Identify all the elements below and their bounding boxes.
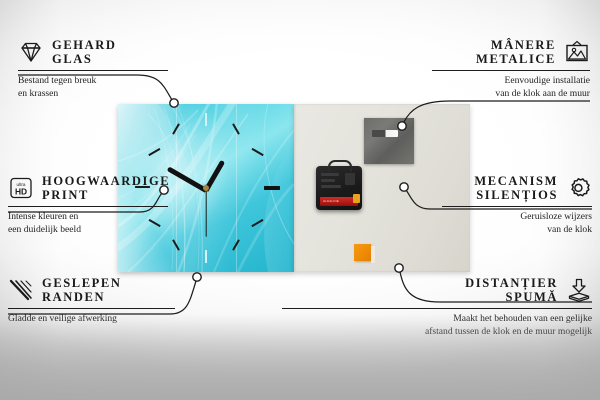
callout-title: HOOGWAARDIGE PRINT	[42, 174, 170, 202]
callout-description: Maakt het behouden van een gelijke afsta…	[282, 313, 592, 338]
second-hand	[205, 189, 206, 237]
callout-title: MÂNERE METALICE	[476, 38, 556, 66]
callout-description: Geruisloze wijzers van de klok	[442, 211, 592, 236]
mechanism-detail	[321, 185, 341, 188]
callout-title: GESLEPEN RANDEN	[42, 276, 122, 304]
hour-tick-10	[148, 148, 160, 157]
callout-mecanism-silentios[interactable]: MECANISM SILENȚIOS Geruisloze wijzers va…	[442, 174, 592, 236]
diamond-icon	[18, 40, 44, 64]
spacer-press-icon	[566, 278, 592, 302]
callout-rule	[282, 308, 592, 309]
callout-distantier-spuma[interactable]: DISTANȚIER SPUMĂ Maakt het behouden van …	[282, 276, 592, 338]
callout-description: Eenvoudige installatie van de klok aan d…	[432, 75, 590, 100]
callout-rule	[432, 70, 590, 71]
connector-node-geslepen-randen	[193, 273, 201, 281]
aa-battery: ALKALINE	[320, 197, 358, 206]
hour-tick-6	[205, 250, 207, 263]
callout-header: MECANISM SILENȚIOS	[442, 174, 592, 202]
mechanism-detail	[345, 173, 355, 185]
callout-manere-metalice[interactable]: MÂNERE METALICE Eenvoudige installatie v…	[432, 38, 590, 100]
callout-description: Intense kleuren en een duidelijk beeld	[8, 211, 168, 236]
hand-center-cap	[203, 185, 209, 191]
orange-spacer	[354, 244, 371, 261]
product-illustration: ALKALINE	[118, 104, 470, 272]
callout-header: MÂNERE METALICE	[432, 38, 590, 66]
hour-tick-4	[251, 219, 263, 228]
metal-hanger-plate	[364, 118, 414, 164]
callout-header: ultra HD HOOGWAARDIGE PRINT	[8, 174, 168, 202]
infographic-canvas: ALKALINE	[0, 0, 600, 400]
callout-header: DISTANȚIER SPUMĂ	[282, 276, 592, 304]
hour-tick-1	[232, 123, 240, 134]
silent-clock-mechanism: ALKALINE	[316, 166, 362, 210]
hour-tick-11	[172, 123, 180, 134]
callout-header: GESLEPEN RANDEN	[8, 276, 175, 304]
callout-gehard-glas[interactable]: GEHARD GLAS Bestand tegen breuk en krass…	[18, 38, 168, 100]
hour-tick-12	[205, 113, 207, 126]
callout-geslepen-randen[interactable]: GESLEPEN RANDEN Gladde en veilige afwerk…	[8, 276, 175, 326]
spacer-side-face	[371, 246, 375, 263]
callout-title: GEHARD GLAS	[52, 38, 116, 66]
hour-tick-7	[172, 239, 180, 250]
ultra-hd-icon: ultra HD	[8, 176, 34, 200]
battery-label: ALKALINE	[323, 199, 339, 203]
mechanism-detail	[321, 179, 335, 182]
callout-rule	[8, 206, 168, 207]
callout-title: MECANISM SILENȚIOS	[474, 174, 558, 202]
callout-hoogwaardige-print[interactable]: ultra HD HOOGWAARDIGE PRINT Intense kleu…	[8, 174, 168, 236]
mechanism-detail	[321, 173, 339, 176]
gear-icon	[566, 176, 592, 200]
hour-tick-5	[232, 239, 240, 250]
picture-frame-hanger-icon	[564, 40, 590, 64]
callout-rule	[18, 70, 168, 71]
callout-header: GEHARD GLAS	[18, 38, 168, 66]
callout-rule	[442, 206, 592, 207]
callout-title: DISTANȚIER SPUMĂ	[465, 276, 558, 304]
hour-tick-3	[264, 186, 280, 190]
mechanism-hook	[328, 160, 352, 172]
callout-description: Bestand tegen breuk en krassen	[18, 75, 168, 100]
svg-text:HD: HD	[15, 186, 27, 196]
hanger-slot	[372, 130, 398, 137]
battery-terminal	[353, 194, 360, 203]
hour-tick-2	[251, 148, 263, 157]
minute-hand	[167, 166, 208, 192]
bevelled-edge-icon	[8, 278, 34, 302]
callout-description: Gladde en veilige afwerking	[8, 313, 175, 325]
callout-rule	[8, 308, 175, 309]
